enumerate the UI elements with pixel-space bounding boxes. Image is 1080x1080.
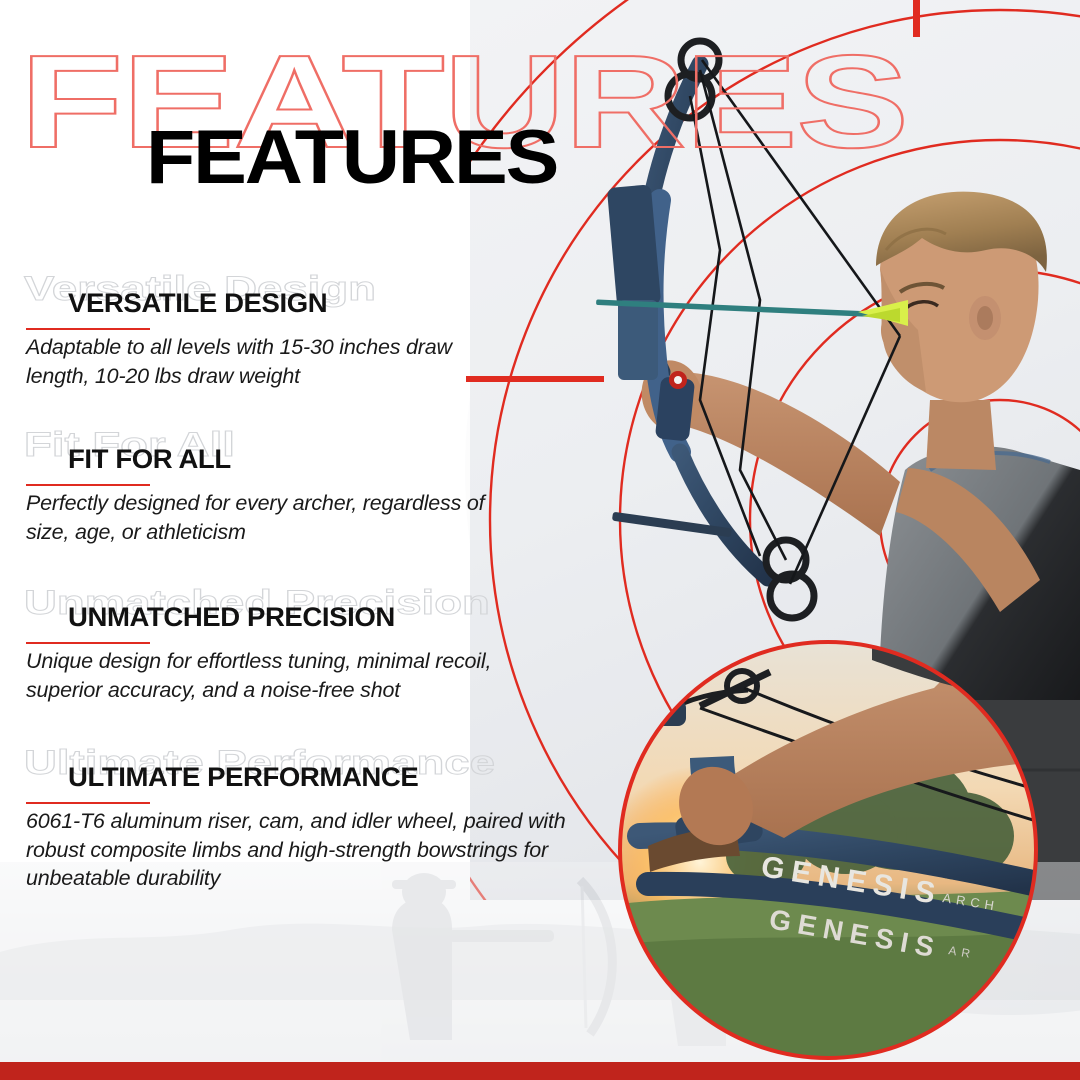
crosshair-tick-horizontal (466, 376, 604, 382)
feature-body-text: Unique design for effortless tuning, min… (26, 647, 526, 704)
feature-underline-rule (26, 328, 150, 330)
feature-body-text: 6061-T6 aluminum riser, cam, and idler w… (26, 807, 606, 893)
infographic-canvas: GENESIS ARCH GENESIS AR (0, 0, 1080, 1080)
feature-underline-rule (26, 802, 150, 804)
inset-brand-sub-lower: AR (947, 943, 976, 961)
feature-underline-rule (26, 484, 150, 486)
feature-heading: ULTIMATE PERFORMANCE (68, 764, 418, 791)
feature-underline-rule (26, 642, 150, 644)
feature-item-versatile-design: Versatile Design VERSATILE DESIGN Adapta… (0, 272, 640, 418)
inset-photo-illustration: GENESIS ARCH GENESIS AR (604, 642, 1046, 1062)
inset-forearm (665, 642, 1040, 858)
feature-heading: VERSATILE DESIGN (68, 290, 327, 317)
archer-figure (634, 192, 1080, 900)
feature-list: Versatile Design VERSATILE DESIGN Adapta… (0, 272, 640, 916)
ghost-archer-b (664, 892, 846, 1046)
inset-brand-lower: GENESIS (767, 903, 943, 964)
bottom-red-bar (0, 1062, 1080, 1080)
arrow (596, 299, 908, 326)
feature-item-ultimate-performance: Ultimate Performance ULTIMATE PERFORMANC… (0, 746, 640, 906)
page-title: FEATURES (146, 120, 557, 196)
title-block: FEATURES FEATURES (0, 0, 860, 210)
feature-body-text: Perfectly designed for every archer, reg… (26, 489, 526, 546)
feature-heading: FIT FOR ALL (68, 446, 231, 473)
feature-item-fit-for-all: Fit For All FIT FOR ALL Perfectly design… (0, 428, 640, 576)
inset-bow: GENESIS ARCH GENESIS AR (640, 671, 1046, 964)
inset-brand-sub-upper: ARCH (942, 890, 1000, 914)
crosshair-tick-vertical (913, 0, 920, 37)
feature-item-unmatched-precision: Unmatched Precision UNMATCHED PRECISION … (0, 586, 640, 736)
feature-body-text: Adaptable to all levels with 15-30 inche… (26, 333, 456, 390)
inset-brand-upper: GENESIS (759, 850, 944, 911)
feature-heading: UNMATCHED PRECISION (68, 604, 395, 631)
